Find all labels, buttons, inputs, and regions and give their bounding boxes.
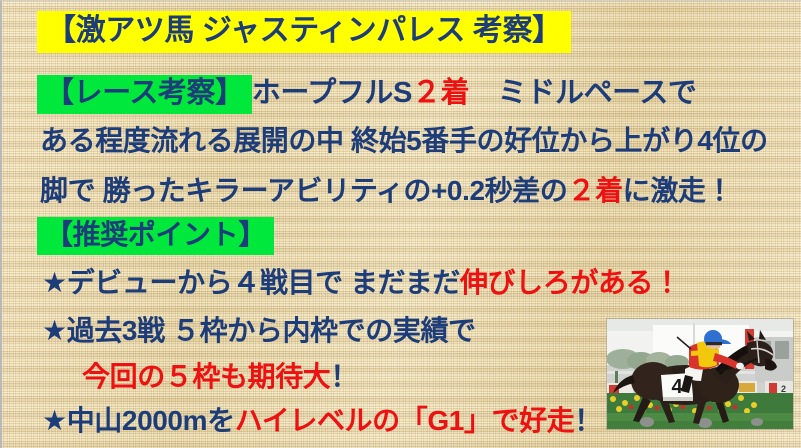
point-item-3-red-text: 今回の５枠も期待大 (82, 363, 330, 391)
point-item-1-navy-prefix: ★デビューから４戦目で まだまだ (42, 269, 460, 297)
race-review-line1-finish: ２着 (412, 79, 469, 108)
point-item-4-red-text: ハイレベルの「G1」で好走 (235, 407, 575, 435)
title-banner: 【激アツ馬 ジャスティンパレス 考察】 (37, 11, 571, 53)
point-item-4-navy-prefix: ★中山2000mを (42, 407, 235, 435)
horse-race-photo: 2 (607, 319, 793, 429)
point-item-1: ★デビューから４戦目で まだまだ伸びしろがある！ (42, 269, 681, 297)
point-item-1-red-text: 伸びしろがある！ (460, 269, 681, 297)
race-review-line-1: 【レース考察】ホープフルS２着 ミドルペースで (37, 75, 697, 114)
race-review-line1-race: ホープフルS (252, 79, 412, 108)
point-item-2-navy-prefix: ★過去3戦 ５枠から内枠での実績で (42, 317, 476, 345)
race-review-line3-prefix: 脚で 勝ったキラーアビリティの+0.2秒差の (40, 177, 567, 205)
point-item-3-navy-suffix: ！ (330, 363, 358, 391)
point-item-4: ★中山2000mをハイレベルの「G1」で好走！ (42, 407, 602, 435)
race-review-heading: 【レース考察】 (37, 75, 252, 114)
horse-race-photo-image: 2 (607, 319, 793, 429)
race-review-line3-suffix: に激走！ (623, 177, 733, 205)
points-heading: 【推奨ポイント】 (37, 217, 274, 255)
point-item-4-navy-suffix: ！ (574, 407, 602, 435)
svg-text:2: 2 (781, 384, 786, 394)
points-heading-banner: 【推奨ポイント】 (37, 217, 274, 255)
race-review-line-2: ある程度流れる展開の中 終始5番手の好位から上がり4位の (40, 127, 768, 155)
title-text: 【激アツ馬 ジャスティンパレス 考察】 (37, 11, 571, 53)
point-item-2: ★過去3戦 ５枠から内枠での実績で (42, 317, 476, 345)
saddle-cloth-number: 4 (671, 376, 683, 398)
point-item-3: 今回の５枠も期待大！ (82, 363, 358, 391)
race-review-line1-pace: ミドルペースで (469, 79, 696, 108)
graphic-canvas: 【激アツ馬 ジャスティンパレス 考察】 【レース考察】ホープフルS２着 ミドルペ… (0, 0, 801, 448)
race-review-line-3: 脚で 勝ったキラーアビリティの+0.2秒差の２着に激走！ (40, 177, 733, 205)
race-review-line3-finish: ２着 (567, 177, 622, 205)
